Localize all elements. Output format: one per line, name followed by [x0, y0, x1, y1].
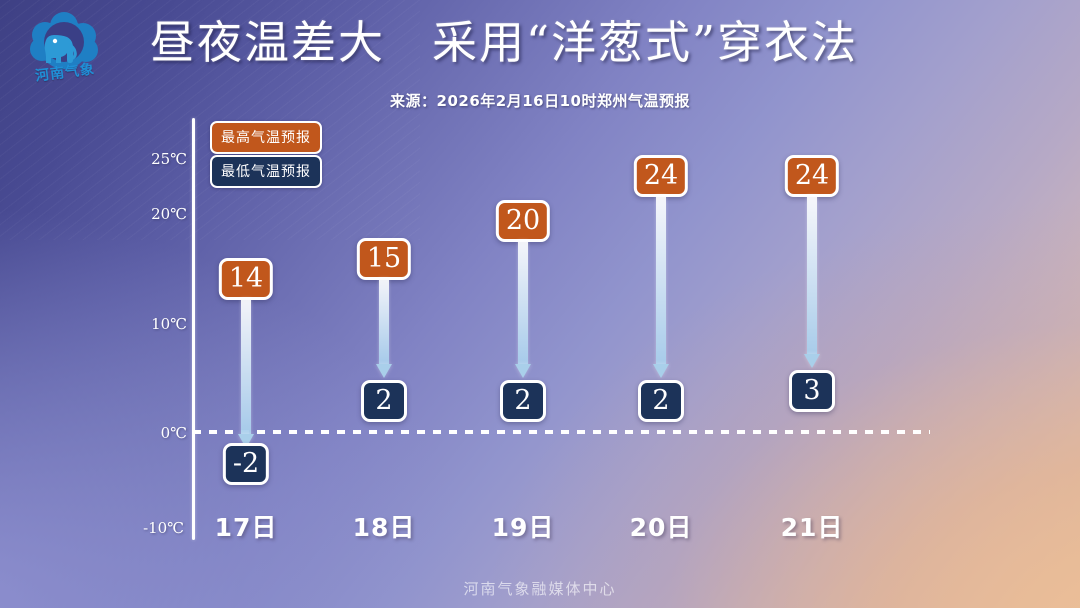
legend-low-label: 最低气温预报 [210, 155, 322, 188]
source-line: 来源：2026年2月16日10时郑州气温预报 [0, 90, 1080, 111]
low-temp-badge: 2 [361, 380, 407, 422]
y-tick-0: 0℃ [125, 424, 187, 442]
temp-range-arrow [515, 240, 531, 378]
legend-high-label: 最高气温预报 [210, 121, 322, 154]
low-temp-badge: 2 [500, 380, 546, 422]
high-temp-badge: 24 [785, 155, 839, 197]
watermark: 河南气象融媒体中心 [0, 578, 1080, 599]
high-temp-badge: 20 [496, 200, 550, 242]
y-tick-minus10: -10℃ [122, 519, 184, 537]
day-label: 20日 [606, 508, 716, 544]
day-label: 19日 [468, 508, 578, 544]
low-temp-badge: -2 [223, 443, 269, 485]
day-label: 21日 [757, 508, 867, 544]
low-temp-badge: 3 [789, 370, 835, 412]
high-temp-badge: 24 [634, 155, 688, 197]
weather-forecast-graphic: 河南气象 昼夜温差大 采用“洋葱式”穿衣法 来源：2026年2月16日10时郑州… [0, 0, 1080, 608]
high-temp-badge: 15 [357, 238, 411, 280]
temp-range-arrow [238, 298, 254, 448]
temp-range-arrow [376, 278, 392, 378]
high-temp-badge: 14 [219, 258, 273, 300]
y-tick-10: 10℃ [125, 315, 187, 333]
legend-low-temp: 最低气温预报 [210, 155, 322, 188]
day-label: 18日 [329, 508, 439, 544]
y-tick-25: 25℃ [125, 150, 187, 168]
zero-degree-dotted-line [193, 430, 930, 434]
page-title: 昼夜温差大 采用“洋葱式”穿衣法 [150, 14, 850, 72]
y-axis-line [192, 118, 195, 540]
y-tick-20: 20℃ [125, 205, 187, 223]
day-label: 17日 [191, 508, 301, 544]
henan-weather-logo: 河南气象 [14, 8, 114, 90]
legend-high-temp: 最高气温预报 [210, 121, 322, 154]
low-temp-badge: 2 [638, 380, 684, 422]
temp-range-arrow [653, 195, 669, 378]
temp-range-arrow [804, 195, 820, 368]
